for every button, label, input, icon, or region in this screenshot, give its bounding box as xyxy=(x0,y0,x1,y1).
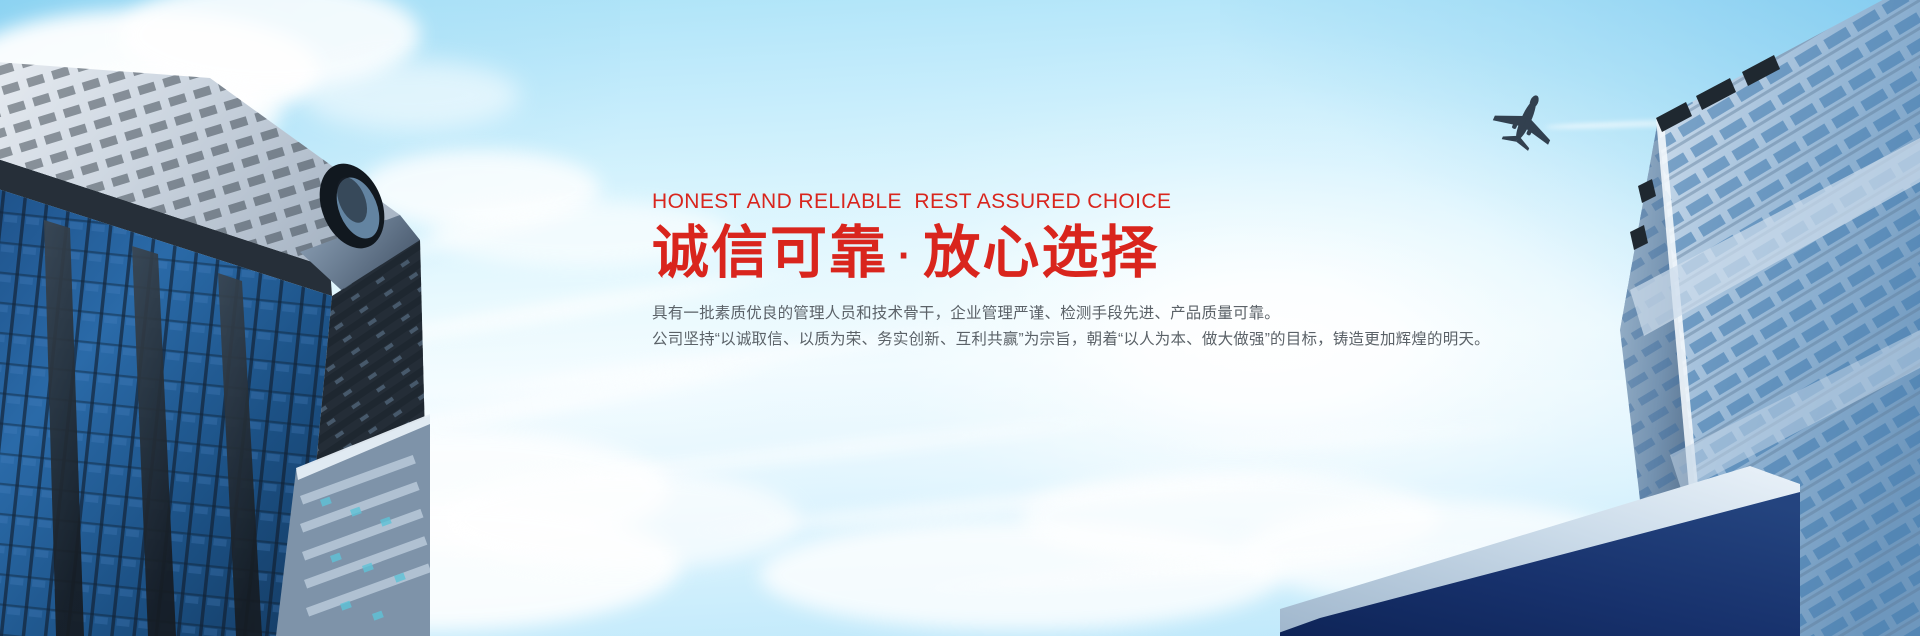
eyebrow-text: HONEST AND RELIABLE REST ASSURED CHOICE xyxy=(652,190,1412,214)
headline-left: 诚信可靠 xyxy=(652,221,888,285)
description-line-2: 公司坚持“以诚取信、以质为荣、务实创新、互利共赢”为宗旨，朝着“以人为本、做大做… xyxy=(652,327,1412,354)
headline-right: 放心选择 xyxy=(923,221,1159,285)
hero-banner: HONEST AND RELIABLE REST ASSURED CHOICE … xyxy=(0,0,1920,636)
description: 具有一批素质优良的管理人员和技术骨干，企业管理严谨、检测手段先进、产品质量可靠。… xyxy=(652,301,1412,354)
page-title: 诚信可靠·放心选择 xyxy=(652,223,1412,285)
headline-separator: · xyxy=(888,234,923,278)
banner-copy: HONEST AND RELIABLE REST ASSURED CHOICE … xyxy=(652,190,1412,354)
description-line-1: 具有一批素质优良的管理人员和技术骨干，企业管理严谨、检测手段先进、产品质量可靠。 xyxy=(652,301,1412,328)
